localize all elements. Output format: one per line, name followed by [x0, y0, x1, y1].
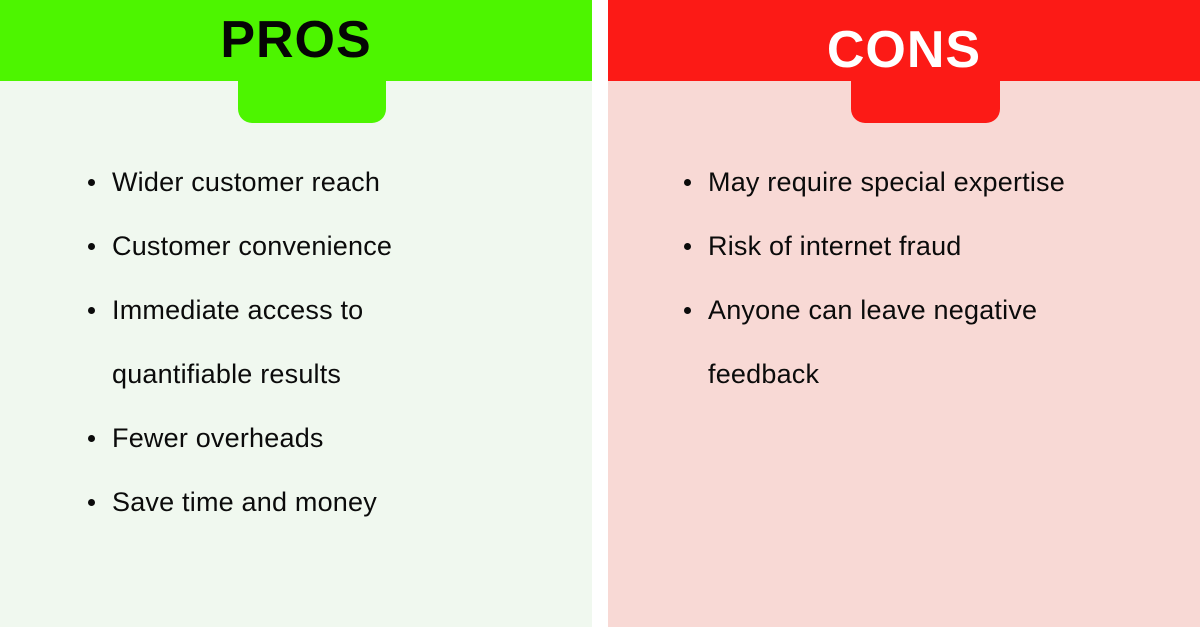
- list-item: May require special expertise: [682, 150, 1182, 214]
- cons-title: CONS: [608, 24, 1200, 76]
- list-item: Customer convenience: [86, 214, 556, 278]
- cons-header-bar: CONS: [608, 0, 1200, 81]
- pros-list: Wider customer reach Customer convenienc…: [86, 150, 556, 534]
- list-item: Immediate access to quantifiable results: [86, 278, 556, 406]
- cons-panel: CONS May require special expertise Risk …: [608, 0, 1200, 627]
- list-item: Risk of internet fraud: [682, 214, 1182, 278]
- list-item: Fewer overheads: [86, 406, 556, 470]
- pros-title: PROS: [0, 14, 592, 66]
- column-divider: [592, 0, 608, 627]
- pros-panel: PROS Wider customer reach Customer conve…: [0, 0, 592, 627]
- list-item: Wider customer reach: [86, 150, 556, 214]
- pros-header-bar: PROS: [0, 0, 592, 81]
- pros-cons-board: PROS Wider customer reach Customer conve…: [0, 0, 1200, 627]
- cons-header-tab-notch: [851, 80, 1000, 123]
- pros-header-tab-notch: [238, 80, 386, 123]
- list-item: Save time and money: [86, 470, 556, 534]
- cons-list: May require special expertise Risk of in…: [682, 150, 1182, 406]
- list-item: Anyone can leave negative feedback: [682, 278, 1182, 406]
